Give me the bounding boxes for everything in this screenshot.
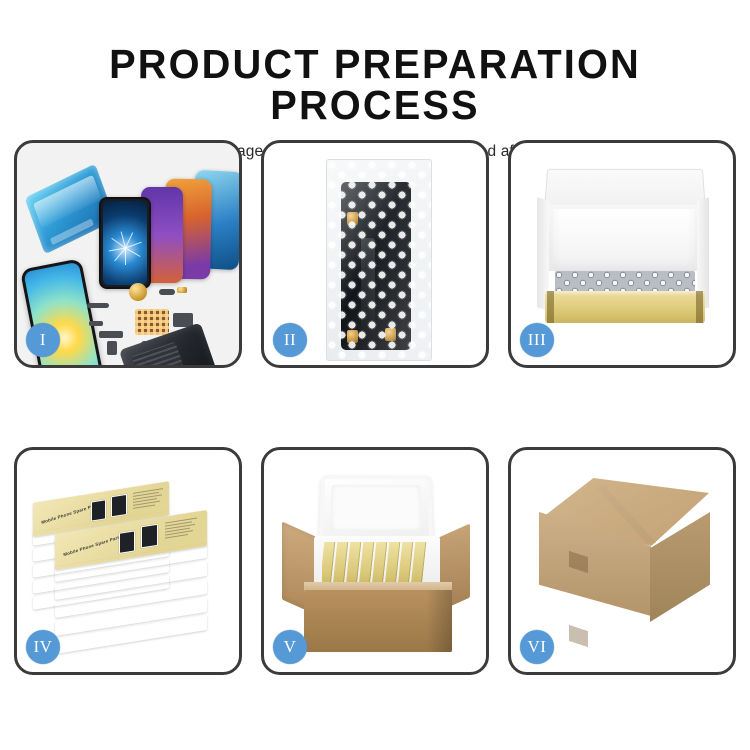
- box-thumbnail: [111, 494, 127, 518]
- process-step-4: Mobile Phone Spare Parts: [14, 447, 242, 675]
- earpiece-part-icon: [87, 303, 109, 308]
- camera-bracket-icon: [99, 331, 123, 338]
- process-step-3: III: [508, 140, 736, 368]
- box-label-text: Mobile Phone Spare Parts: [63, 534, 122, 557]
- box-thumbnail: [141, 524, 158, 549]
- product-preparation-infographic: PRODUCT PREPARATION PROCESS All products…: [0, 0, 750, 750]
- box-thumbnail: [91, 499, 106, 521]
- kraft-box-front-icon: [545, 291, 705, 323]
- bubble-wrap-package-icon: [326, 159, 432, 361]
- box-feature-lines: [133, 486, 175, 511]
- step-badge-1: I: [26, 323, 60, 357]
- step-badge-6: VI: [520, 630, 554, 664]
- connector-part-icon: [177, 287, 187, 293]
- box-thumbnail: [119, 530, 135, 554]
- page-title: PRODUCT PREPARATION PROCESS: [11, 44, 739, 126]
- carton-tab-icon: [569, 625, 588, 647]
- chip-grid-icon: [135, 309, 169, 335]
- process-step-5: V: [261, 447, 489, 675]
- plastic-sheen: [327, 160, 431, 360]
- process-step-grid: I II: [14, 140, 737, 675]
- step-badge-2: II: [273, 323, 307, 357]
- vibrator-part-icon: [129, 283, 147, 301]
- foam-lid-icon: [319, 475, 433, 540]
- step-badge-3: III: [520, 323, 554, 357]
- carton-body-icon: [304, 590, 452, 652]
- button-part-icon: [159, 289, 175, 295]
- packed-boxes-group: [322, 542, 432, 586]
- process-step-6: VI: [508, 447, 736, 675]
- process-step-2: II: [261, 140, 489, 368]
- antenna-part-icon: [89, 321, 103, 326]
- step-badge-4: IV: [26, 630, 60, 664]
- header: PRODUCT PREPARATION PROCESS All products…: [0, 0, 750, 161]
- box-stack-icon: Mobile Phone Spare Parts: [29, 476, 235, 654]
- box-feature-lines: [165, 516, 207, 541]
- foam-sheet-icon: [553, 209, 695, 271]
- sim-tray-icon: [107, 341, 117, 355]
- crack-lines-icon: [108, 231, 142, 265]
- phone-cracked-screen-icon: [99, 197, 151, 289]
- process-step-1: I: [14, 140, 242, 368]
- step-badge-5: V: [273, 630, 307, 664]
